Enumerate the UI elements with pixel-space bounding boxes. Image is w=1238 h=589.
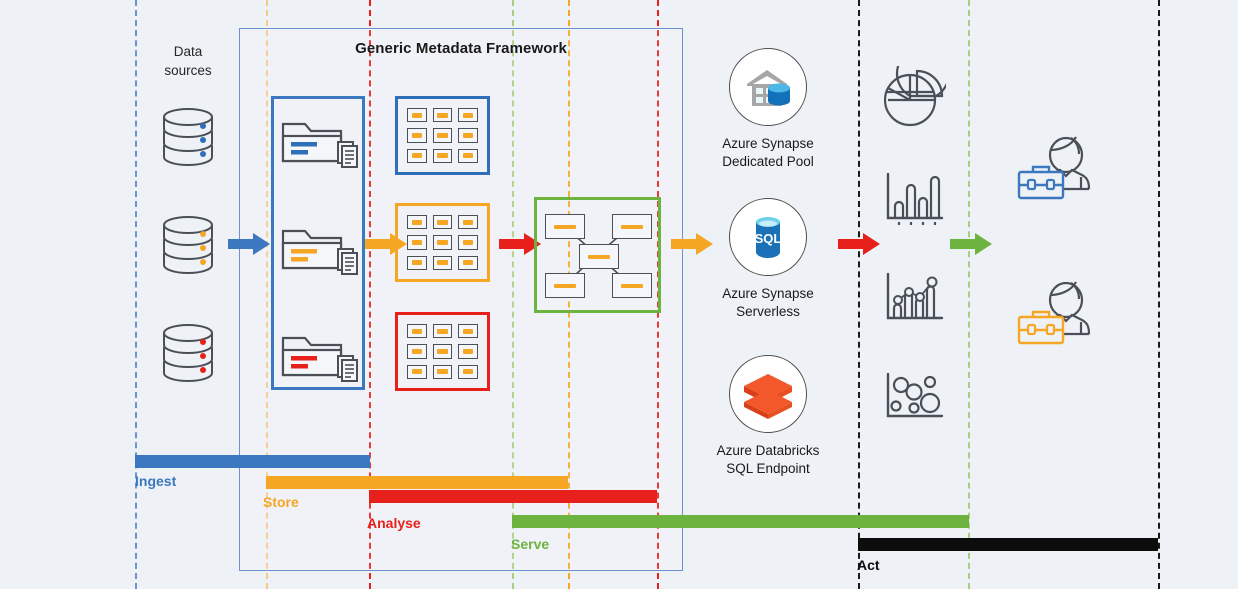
separator-ingest-start <box>135 0 137 589</box>
table-cell <box>433 128 453 142</box>
table-cell <box>458 149 478 163</box>
table-cell <box>407 128 427 142</box>
phase-label-act: Act <box>857 557 880 573</box>
table-cell <box>458 235 478 249</box>
phase-label-analyse: Analyse <box>367 515 421 531</box>
star-schema-model-box <box>534 197 661 313</box>
table-cell <box>407 344 427 358</box>
phase-label-store: Store <box>263 494 299 510</box>
table-cell-bar <box>463 113 473 118</box>
separator-act-end <box>1158 0 1160 589</box>
table-cell <box>458 344 478 358</box>
service-azure-databricks-sql-endpoint[interactable]: Azure Databricks SQL Endpoint <box>683 355 853 478</box>
table-cell-bar <box>437 113 447 118</box>
table-cell <box>433 235 453 249</box>
table-cell-bar <box>412 240 422 245</box>
databricks-layers-icon <box>729 355 807 433</box>
table-cell <box>458 365 478 379</box>
table-cell <box>407 256 427 270</box>
table-cell-bar <box>463 220 473 225</box>
table-cell-bar <box>463 349 473 354</box>
table-cell <box>407 235 427 249</box>
svg-text:SQL: SQL <box>755 231 782 246</box>
table-cell-bar <box>412 349 422 354</box>
bar-chart-icon <box>884 172 946 233</box>
table-cell <box>458 215 478 229</box>
warehouse-database-icon <box>729 48 807 126</box>
table-cell <box>407 365 427 379</box>
service-azure-synapse-serverless[interactable]: SQL Azure Synapse Serverless <box>683 198 853 321</box>
model-node-fact <box>579 244 619 269</box>
table-cell-bar <box>412 260 422 265</box>
model-node-dim1 <box>545 214 585 239</box>
folder-icon-curated <box>279 326 359 388</box>
database-icon-blue <box>160 105 216 167</box>
service-azure-synapse-dedicated-pool[interactable]: Azure Synapse Dedicated Pool <box>683 48 853 171</box>
database-icon-red <box>160 321 216 383</box>
phase-bar-ingest <box>135 455 370 468</box>
table-cell-bar <box>463 329 473 334</box>
separator-serve-end <box>968 0 970 589</box>
model-node-dim2 <box>612 214 652 239</box>
arrow-serve-to-visuals <box>838 233 880 260</box>
table-grid <box>398 99 487 172</box>
table-cell-bar <box>437 329 447 334</box>
folder-icon-enriched <box>279 219 359 281</box>
table-cell-bar <box>437 260 447 265</box>
table-cell-bar <box>412 113 422 118</box>
arrow-visuals-to-users <box>950 233 992 260</box>
table-cell-bar <box>412 369 422 374</box>
sql-database-icon: SQL <box>729 198 807 276</box>
phase-bar-store <box>266 476 568 489</box>
tables-gold <box>395 312 490 391</box>
diagram-canvas: Data sources <box>0 0 1238 589</box>
table-cell-bar <box>412 329 422 334</box>
folder-icon-raw <box>279 112 359 174</box>
service-label: Azure Databricks SQL Endpoint <box>683 442 853 478</box>
phase-label-ingest: Ingest <box>135 473 176 489</box>
pie-chart-icon <box>884 66 946 133</box>
table-cell <box>407 149 427 163</box>
table-cell-bar <box>437 369 447 374</box>
separator-act-start <box>858 0 860 589</box>
combo-chart-icon <box>884 270 946 331</box>
table-cell <box>458 128 478 142</box>
data-sources-label: Data sources <box>148 42 228 80</box>
table-cell-bar <box>463 260 473 265</box>
table-cell-bar <box>437 133 447 138</box>
table-cell-bar <box>412 133 422 138</box>
service-label: Azure Synapse Dedicated Pool <box>683 135 853 171</box>
phase-bar-act <box>858 538 1158 551</box>
table-cell-bar <box>412 220 422 225</box>
model-node-dim3 <box>545 273 585 298</box>
table-cell-bar <box>437 153 447 158</box>
table-cell <box>433 215 453 229</box>
phase-label-serve: Serve <box>511 536 549 552</box>
arrow-sources-to-lake <box>228 233 270 260</box>
data-sources-label-line2: sources <box>148 61 228 80</box>
persona-business-user-orange <box>1012 270 1108 351</box>
table-cell <box>458 324 478 338</box>
phase-bar-serve <box>512 515 969 528</box>
data-sources-label-line1: Data <box>148 42 228 61</box>
tables-silver <box>395 203 490 282</box>
table-cell <box>433 365 453 379</box>
bubble-chart-icon <box>884 372 946 429</box>
table-cell-bar <box>463 133 473 138</box>
phase-bar-analyse <box>369 490 657 503</box>
table-cell-bar <box>437 349 447 354</box>
table-cell-bar <box>463 153 473 158</box>
table-cell <box>433 324 453 338</box>
table-cell <box>433 108 453 122</box>
table-cell <box>433 149 453 163</box>
tables-bronze <box>395 96 490 175</box>
service-label: Azure Synapse Serverless <box>683 285 853 321</box>
table-cell-bar <box>412 153 422 158</box>
model-node-dim4 <box>612 273 652 298</box>
table-cell <box>433 344 453 358</box>
table-cell <box>407 108 427 122</box>
table-cell-bar <box>463 240 473 245</box>
table-cell <box>458 108 478 122</box>
table-cell <box>433 256 453 270</box>
table-cell-bar <box>463 369 473 374</box>
table-grid <box>398 315 487 388</box>
table-cell-bar <box>437 220 447 225</box>
table-cell <box>458 256 478 270</box>
database-icon-orange <box>160 213 216 275</box>
table-cell <box>407 215 427 229</box>
table-cell-bar <box>437 240 447 245</box>
framework-title: Generic Metadata Framework <box>239 40 683 57</box>
table-cell <box>407 324 427 338</box>
persona-business-user-blue <box>1012 125 1108 206</box>
table-grid <box>398 206 487 279</box>
